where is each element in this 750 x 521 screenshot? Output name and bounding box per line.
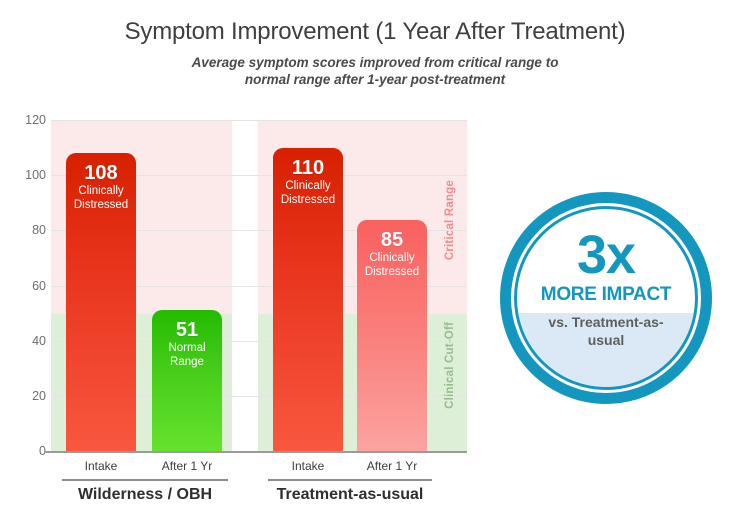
y-tick-80: 80: [2, 223, 46, 237]
badge-multiplier: 3x: [577, 228, 635, 282]
band-label-critical-range: Critical Range: [444, 180, 456, 260]
bar-status-tau-after-1yr: Clinically Distressed: [357, 251, 427, 279]
bar-status-text: Clinically Distressed: [74, 185, 128, 211]
bar-status-text: Normal Range: [168, 342, 205, 368]
x-axis-baseline: [44, 451, 467, 453]
badge-impact-label: MORE IMPACT: [541, 282, 671, 306]
bar-wilderness-after-1yr[interactable]: 51 Normal Range: [152, 310, 222, 451]
bar-value-wilderness-intake: 108: [66, 153, 136, 184]
badge-comparison-label: vs. Treatment-as-usual: [536, 306, 676, 349]
bar-tau-after-1yr[interactable]: 85 Clinically Distressed: [357, 220, 427, 451]
group-rule-wilderness: [62, 479, 228, 481]
x-tick-tau-after-1yr: After 1 Yr: [367, 459, 417, 473]
group-label-tau: Treatment-as-usual: [277, 486, 424, 504]
y-axis: 120 100 80 60 40 20 0: [0, 0, 46, 521]
y-tick-100: 100: [2, 168, 46, 182]
bar-status-wilderness-intake: Clinically Distressed: [66, 184, 136, 212]
bar-status-text: Clinically Distressed: [281, 180, 335, 206]
gridline-120: [51, 120, 467, 121]
impact-badge: 3x MORE IMPACT vs. Treatment-as-usual: [500, 192, 712, 404]
bar-value-wilderness-after-1yr: 51: [152, 310, 222, 341]
bar-status-text: Clinically Distressed: [365, 252, 419, 278]
bar-status-tau-intake: Clinically Distressed: [273, 179, 343, 207]
x-tick-wilderness-intake: Intake: [85, 459, 118, 473]
y-tick-40: 40: [2, 334, 46, 348]
bar-value-tau-intake: 110: [273, 148, 343, 179]
y-tick-0: 0: [2, 444, 46, 458]
bar-wilderness-intake[interactable]: 108 Clinically Distressed: [66, 153, 136, 451]
bar-value-tau-after-1yr: 85: [357, 220, 427, 251]
y-tick-120: 120: [2, 113, 46, 127]
y-tick-60: 60: [2, 279, 46, 293]
x-tick-tau-intake: Intake: [292, 459, 325, 473]
bar-status-wilderness-after-1yr: Normal Range: [152, 341, 222, 369]
group-label-wilderness: Wilderness / OBH: [78, 486, 212, 504]
y-tick-20: 20: [2, 389, 46, 403]
badge-content: 3x MORE IMPACT vs. Treatment-as-usual: [514, 206, 698, 390]
x-tick-wilderness-after-1yr: After 1 Yr: [162, 459, 212, 473]
bar-tau-intake[interactable]: 110 Clinically Distressed: [273, 148, 343, 451]
group-rule-tau: [268, 479, 432, 481]
